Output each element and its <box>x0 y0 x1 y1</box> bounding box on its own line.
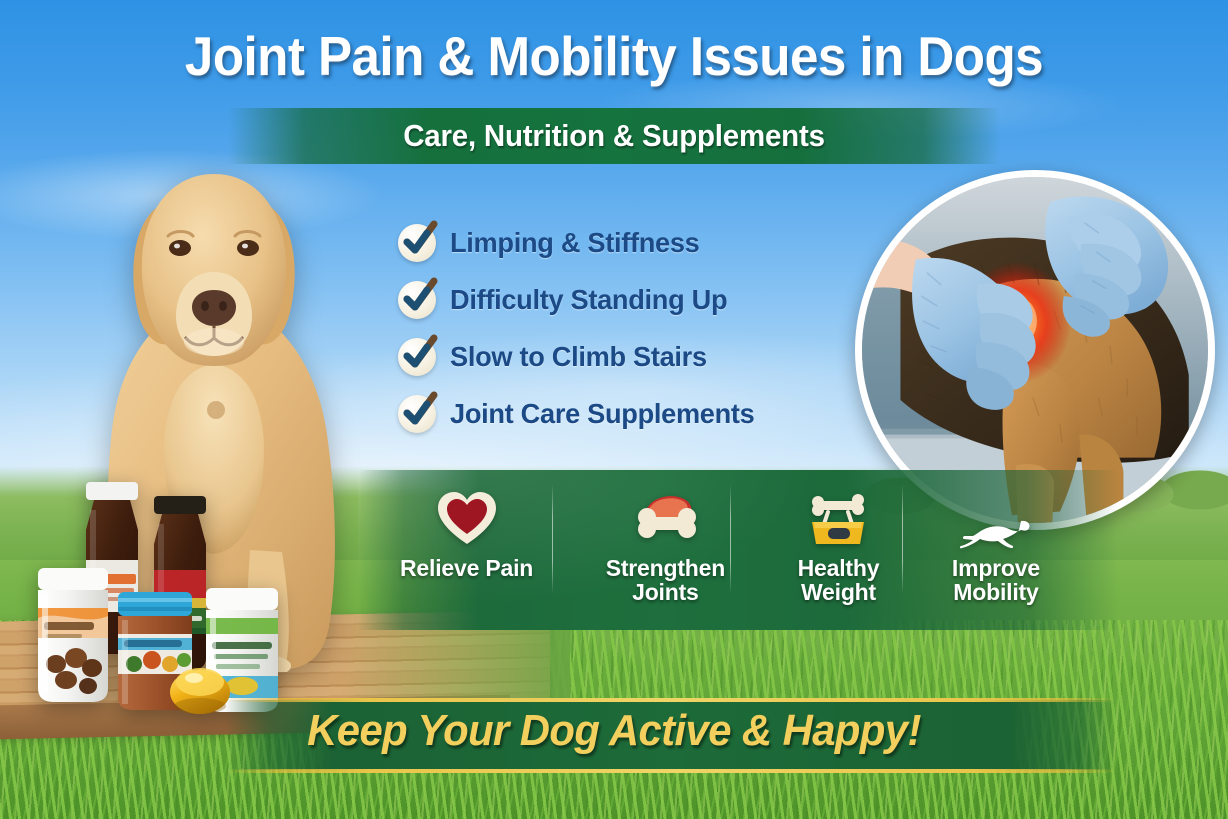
symptom-label: Joint Care Supplements <box>450 398 755 430</box>
benefit-label: Healthy Weight <box>798 556 880 605</box>
benefit-divider <box>552 484 553 594</box>
heart-icon <box>436 486 498 550</box>
page-title: Joint Pain & Mobility Issues in Dogs <box>43 28 1185 85</box>
benefit-label: Relieve Pain <box>400 556 533 580</box>
supplement-products-photo <box>34 452 334 717</box>
checkmark-icon <box>398 281 436 319</box>
cta-text: Keep Your Dog Active & Happy! <box>31 706 1198 756</box>
checkmark-icon <box>398 338 436 376</box>
benefits-list: Relieve Pain <box>400 470 1040 630</box>
benefit-label: Strengthen Joints <box>606 556 725 605</box>
symptom-label: Slow to Climb Stairs <box>450 341 707 373</box>
symptom-label: Difficulty Standing Up <box>450 284 727 316</box>
checkmark-icon <box>398 224 436 262</box>
cta-rule-top <box>226 698 1116 702</box>
food-bowl-scale-icon <box>806 486 870 550</box>
benefit-label: Improve Mobility <box>952 556 1040 605</box>
symptom-label: Limping & Stiffness <box>450 227 699 259</box>
benefit-relieve-pain: Relieve Pain <box>400 470 533 580</box>
list-item: Difficulty Standing Up <box>398 271 818 328</box>
list-item: Slow to Climb Stairs <box>398 328 818 385</box>
benefit-healthy-weight: Healthy Weight <box>798 470 880 605</box>
benefit-divider <box>730 484 731 594</box>
list-item: Joint Care Supplements <box>398 385 818 442</box>
poster-canvas: Joint Pain & Mobility Issues in Dogs Car… <box>0 0 1228 819</box>
running-dog-icon <box>959 516 1033 550</box>
checkmark-icon <box>398 395 436 433</box>
symptom-list: Limping & Stiffness Difficulty Standing … <box>398 214 818 442</box>
bone-steak-icon <box>632 486 698 550</box>
benefit-improve-mobility: Improve Mobility <box>952 470 1040 605</box>
benefit-strengthen-joints: Strengthen Joints <box>606 470 725 605</box>
cta-rule-bottom <box>226 769 1116 773</box>
list-item: Limping & Stiffness <box>398 214 818 271</box>
benefit-divider <box>902 484 903 594</box>
page-subtitle: Care, Nutrition & Supplements <box>31 110 1198 162</box>
